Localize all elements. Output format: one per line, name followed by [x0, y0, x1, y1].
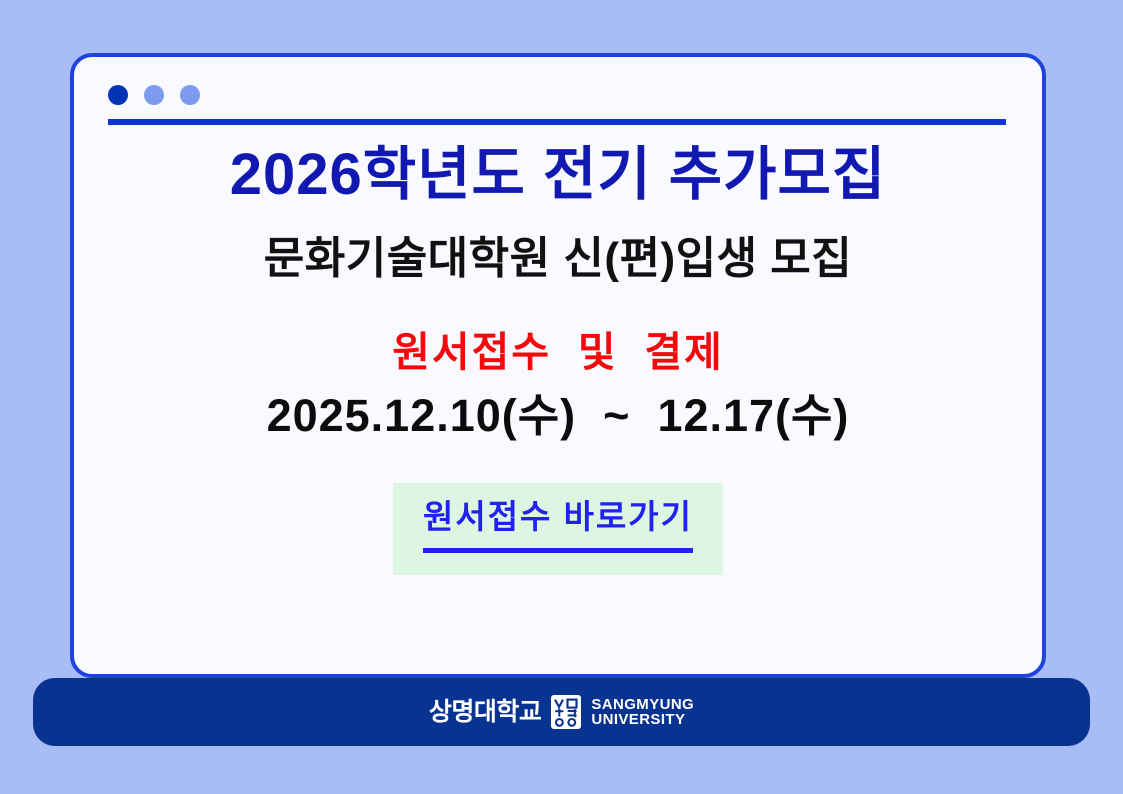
application-period-dates: 2025.12.10(수) ~ 12.17(수)	[74, 390, 1042, 442]
window-dot-minimize-icon[interactable]	[144, 85, 164, 105]
window-controls	[108, 85, 200, 105]
admission-poster: 2026학년도 전기 추가모집 문화기술대학원 신(편)입생 모집 원서접수 및…	[0, 0, 1123, 794]
page-subtitle: 문화기술대학원 신(편)입생 모집	[74, 234, 1042, 285]
application-period-label: 원서접수 및 결제	[74, 329, 1042, 376]
university-brand-logo: 상명대학교 SANGMYUNG UNIVERSITY	[429, 695, 694, 729]
sangmyung-emblem-icon	[551, 695, 581, 729]
brand-korean-name: 상명대학교	[429, 700, 542, 725]
window-titlebar	[74, 57, 1042, 123]
brand-english-line2: UNIVERSITY	[591, 712, 694, 727]
apply-now-underline	[423, 548, 693, 553]
browser-window-card: 2026학년도 전기 추가모집 문화기술대학원 신(편)입생 모집 원서접수 및…	[70, 53, 1046, 678]
brand-english-name: SANGMYUNG UNIVERSITY	[591, 697, 694, 728]
apply-now-label: 원서접수 바로가기	[423, 499, 693, 535]
poster-content: 2026학년도 전기 추가모집 문화기술대학원 신(편)입생 모집 원서접수 및…	[74, 143, 1042, 575]
footer-bar: 상명대학교 SANGMYUNG UNIVERSITY	[33, 678, 1090, 746]
page-title: 2026학년도 전기 추가모집	[74, 143, 1042, 208]
window-dot-maximize-icon[interactable]	[180, 85, 200, 105]
cta-container: 원서접수 바로가기	[74, 483, 1042, 574]
titlebar-divider	[108, 119, 1006, 125]
window-dot-close-icon[interactable]	[108, 85, 128, 105]
apply-now-button[interactable]: 원서접수 바로가기	[393, 483, 723, 574]
brand-english-line1: SANGMYUNG	[591, 697, 694, 712]
